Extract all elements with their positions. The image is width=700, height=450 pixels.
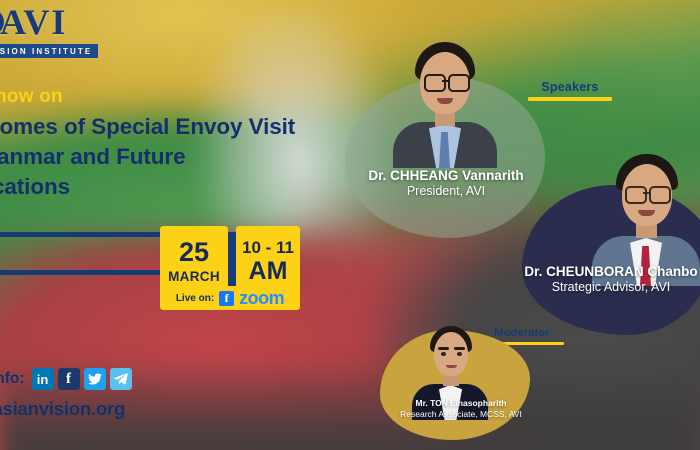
zoom-logo[interactable]: zoom <box>239 288 284 309</box>
website-url[interactable]: w.asianvision.org <box>0 398 125 420</box>
moderator-face <box>434 332 468 376</box>
speaker-2-caption: Dr. CHEUNBORAN Chanbo Strategic Advisor,… <box>505 264 700 294</box>
headline-kicker: k Show on <box>0 86 366 108</box>
speakers-section-label: Speakers <box>528 80 612 101</box>
speakers-label-underline <box>528 97 612 101</box>
event-poster: AVI VISION INSTITUTE k Show on utcomes o… <box>0 0 700 450</box>
linkedin-icon[interactable]: in <box>32 368 54 390</box>
logo-text: AVI <box>0 4 67 40</box>
event-time-range: 10 - 11 <box>242 239 294 256</box>
glasses-left-icon <box>424 74 446 92</box>
speaker-1-name: Dr. CHHEANG Vannarith <box>338 168 554 183</box>
more-info-block: re Info: in f <box>0 368 132 390</box>
glasses-right-icon <box>649 186 671 204</box>
social-links: in f <box>32 368 132 390</box>
twitter-icon[interactable] <box>84 368 106 390</box>
speakers-label-text: Speakers <box>528 80 612 94</box>
moderator-mouth <box>446 365 457 368</box>
title-line-1: utcomes of Special Envoy Visit <box>0 112 366 142</box>
telegram-icon[interactable] <box>110 368 132 390</box>
more-info-label: re Info: <box>0 370 25 388</box>
headline-title: utcomes of Special Envoy Visit Myanmar a… <box>0 112 366 202</box>
speaker-1-role: President, AVI <box>338 184 554 198</box>
glasses-bridge-icon <box>442 80 448 82</box>
event-time-ampm: AM <box>249 259 288 284</box>
moderator-caption: Mr. TON Linasopharith Research Associate… <box>366 398 556 419</box>
moderator-role: Research Associate, MCSS, AVI <box>366 409 556 419</box>
avi-logo: AVI VISION INSTITUTE <box>0 4 118 59</box>
glasses-left-icon <box>625 186 647 204</box>
speaker-2-role: Strategic Advisor, AVI <box>505 280 700 294</box>
event-date-month: MARCH <box>168 269 220 284</box>
speaker-2-name: Dr. CHEUNBORAN Chanbo <box>505 264 700 279</box>
live-on-label: Live on: <box>176 293 214 304</box>
moderator-name: Mr. TON Linasopharith <box>366 398 556 408</box>
glasses-bridge-icon <box>643 192 649 194</box>
logo-wordmark: AVI <box>0 4 118 40</box>
logo-subtitle: VISION INSTITUTE <box>0 44 98 58</box>
live-platform-bar: Live on: f zoom <box>160 286 300 310</box>
title-line-2: Myanmar and Future <box>0 142 366 172</box>
moderator-eye-left <box>441 352 446 356</box>
moderator-brow-left <box>438 347 449 350</box>
speaker-1-caption: Dr. CHHEANG Vannarith President, AVI <box>338 168 554 198</box>
moderator-brow-right <box>454 347 465 350</box>
facebook-icon[interactable]: f <box>58 368 80 390</box>
moderator-eye-right <box>457 352 462 356</box>
speaker-1-photo <box>393 36 497 168</box>
headline-block: k Show on utcomes of Special Envoy Visit… <box>0 86 366 202</box>
glasses-right-icon <box>448 74 470 92</box>
event-date-day: 25 <box>179 239 209 266</box>
facebook-icon[interactable]: f <box>219 291 234 306</box>
title-line-3: plications <box>0 172 366 202</box>
